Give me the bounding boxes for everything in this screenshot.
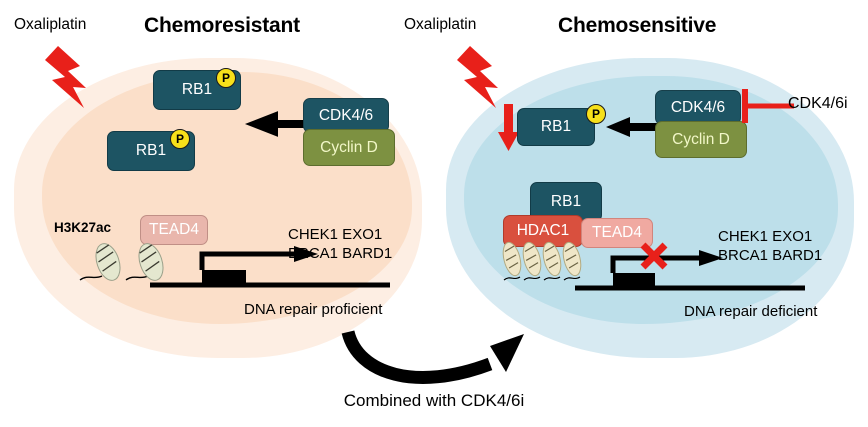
pathway-figure: Oxaliplatin Chemoresistant RB1 P RB1 P C…	[0, 0, 868, 427]
drug-label-right: Oxaliplatin	[404, 16, 476, 34]
gene-line-2-right: BRCA1 BARD1	[718, 247, 822, 266]
phospho-badge-rb1-right: P	[586, 104, 606, 124]
inhibitor-label-cdk46i: CDK4/6i	[788, 95, 848, 113]
panel-title-chemoresistant: Chemoresistant	[144, 14, 300, 38]
curved-transition-arrow-icon	[340, 330, 550, 390]
red-x-icon	[639, 241, 669, 271]
gene-list-right: CHEK1 EXO1 BRCA1 BARD1	[718, 228, 822, 266]
protein-cyclind-right: Cyclin D	[655, 121, 747, 158]
activation-arrow-right	[606, 116, 658, 138]
protein-cyclind-left: Cyclin D	[303, 129, 395, 166]
panel-title-chemosensitive: Chemosensitive	[558, 14, 716, 38]
activation-arrow-left	[252, 113, 308, 135]
protein-cdk46-right: CDK4/6	[655, 90, 741, 125]
status-left: DNA repair proficient	[244, 301, 382, 318]
status-right: DNA repair deficient	[684, 303, 817, 320]
gene-list-left: CHEK1 EXO1 BRCA1 BARD1	[288, 226, 392, 264]
phospho-badge-rb1-bottom-left: P	[170, 129, 190, 149]
lightning-bolt-icon-right	[452, 46, 504, 122]
phospho-badge-rb1-top-left: P	[216, 68, 236, 88]
drug-label-left: Oxaliplatin	[14, 16, 86, 34]
gene-line-1-right: CHEK1 EXO1	[718, 228, 822, 247]
protein-rb1-top-right: RB1	[517, 108, 595, 146]
lightning-bolt-icon-left	[40, 46, 92, 122]
bottom-caption: Combined with CDK4/6i	[0, 391, 868, 411]
gene-line-2-left: BRCA1 BARD1	[288, 245, 392, 264]
chromatin-mark-label-left: H3K27ac	[54, 220, 111, 235]
gene-line-1-left: CHEK1 EXO1	[288, 226, 392, 245]
protein-cdk46-left: CDK4/6	[303, 98, 389, 133]
